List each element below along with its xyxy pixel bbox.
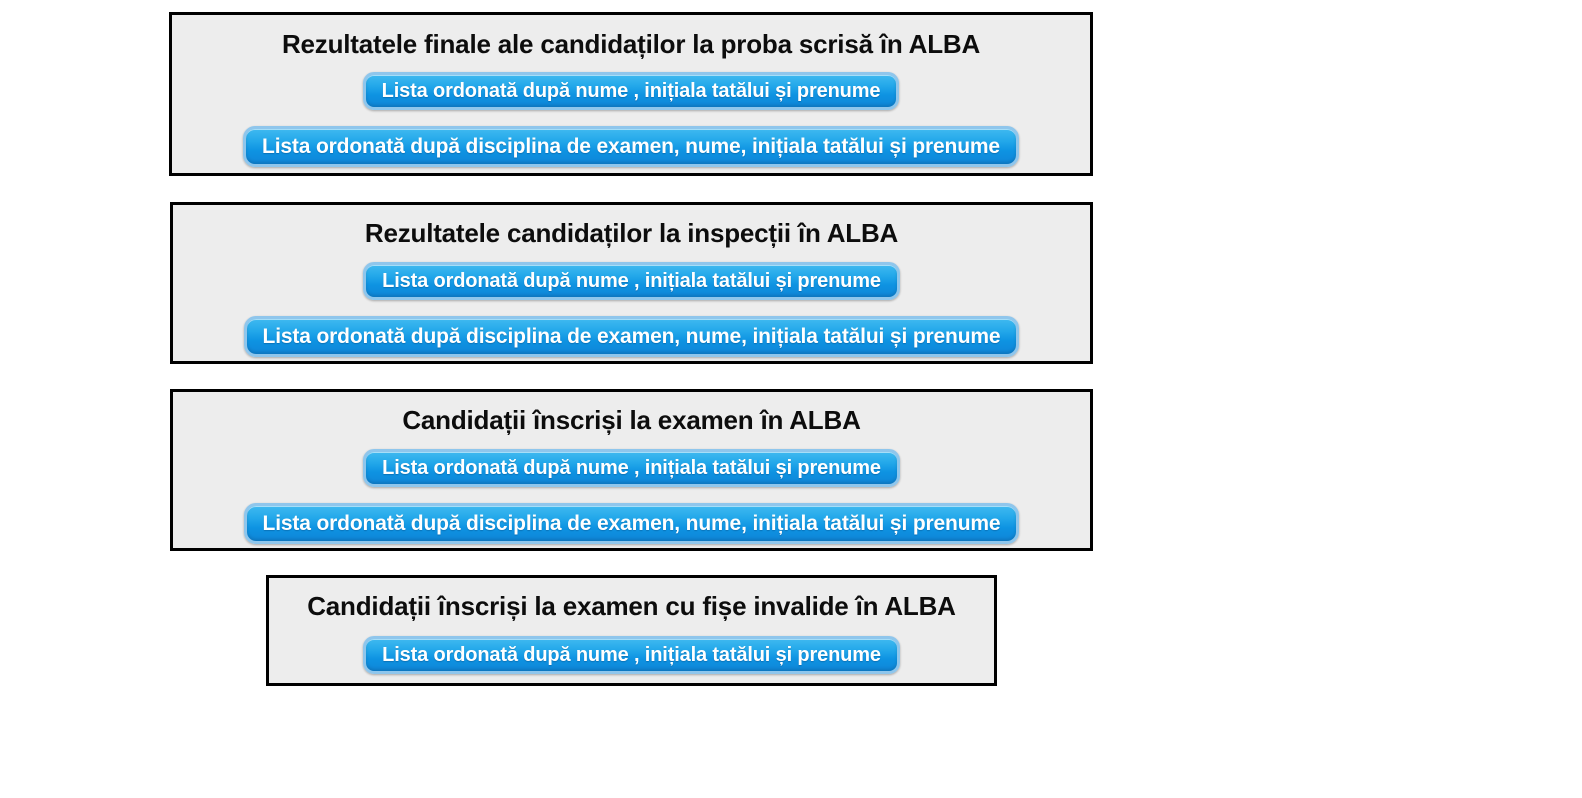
panel-title: Rezultatele finale ale candidaților la p… <box>172 30 1090 59</box>
button-row: Lista ordonată după nume , inițiala tată… <box>269 636 994 674</box>
panel-title: Rezultatele candidaților la inspecții în… <box>173 219 1090 248</box>
link-lista-ordonata-dupa-disciplina[interactable]: Lista ordonată după disciplina de examen… <box>244 316 1020 357</box>
link-lista-ordonata-dupa-nume[interactable]: Lista ordonată după nume , inițiala tată… <box>363 262 900 300</box>
button-row: Lista ordonată după disciplina de examen… <box>172 126 1090 167</box>
button-row: Lista ordonată după nume , inițiala tată… <box>173 449 1090 487</box>
panel-rezultate-inspectii: Rezultatele candidaților la inspecții în… <box>170 202 1093 364</box>
button-row: Lista ordonată după nume , inițiala tată… <box>172 72 1090 110</box>
panel-candidati-fise-invalide: Candidații înscriși la examen cu fișe in… <box>266 575 997 686</box>
link-lista-ordonata-dupa-disciplina[interactable]: Lista ordonată după disciplina de examen… <box>244 503 1020 544</box>
panel-title: Candidații înscriși la examen în ALBA <box>173 406 1090 435</box>
button-row: Lista ordonată după disciplina de examen… <box>173 503 1090 544</box>
results-links-page: { "page": { "background_color": "#ffffff… <box>0 0 1582 798</box>
panel-title: Candidații înscriși la examen cu fișe in… <box>269 592 994 621</box>
link-lista-ordonata-dupa-nume[interactable]: Lista ordonată după nume , inițiala tată… <box>363 72 900 110</box>
link-lista-ordonata-dupa-disciplina[interactable]: Lista ordonată după disciplina de examen… <box>243 126 1019 167</box>
panel-candidati-inscrisi: Candidații înscriși la examen în ALBA Li… <box>170 389 1093 551</box>
button-row: Lista ordonată după nume , inițiala tată… <box>173 262 1090 300</box>
link-lista-ordonata-dupa-nume[interactable]: Lista ordonată după nume , inițiala tată… <box>363 449 900 487</box>
link-lista-ordonata-dupa-nume[interactable]: Lista ordonată după nume , inițiala tată… <box>363 636 900 674</box>
button-row: Lista ordonată după disciplina de examen… <box>173 316 1090 357</box>
panel-rezultate-finale-proba-scrisa: Rezultatele finale ale candidaților la p… <box>169 12 1093 176</box>
